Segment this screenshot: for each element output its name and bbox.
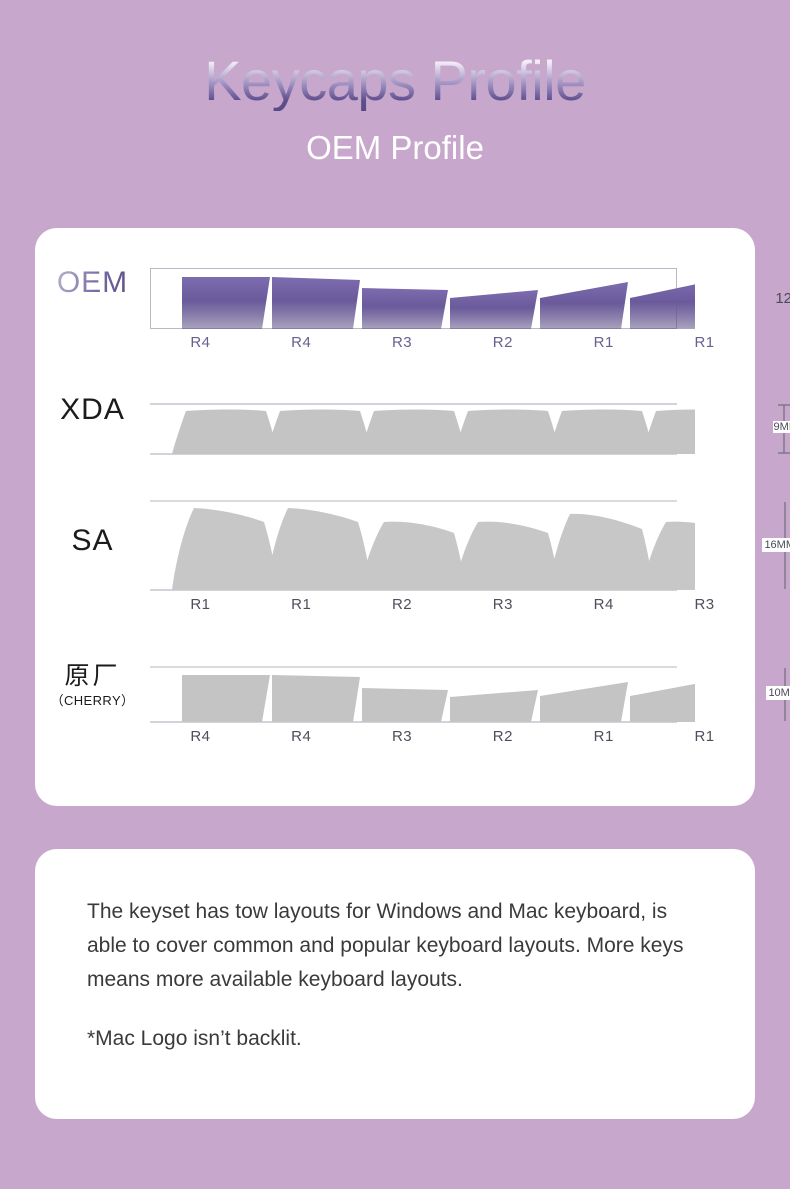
key-label: R1 xyxy=(251,596,352,613)
key-label: R2 xyxy=(352,596,453,613)
row-label-sa-text: SA xyxy=(35,526,150,556)
row-label-sa: SA xyxy=(35,526,150,556)
key-label: R2 xyxy=(452,334,553,351)
key-label: R4 xyxy=(251,728,352,745)
row-label-oem-text: OEM xyxy=(57,268,128,298)
row-label-xda: XDA xyxy=(35,395,150,425)
row-stage-xda: 9MM xyxy=(150,403,755,455)
key-label: R4 xyxy=(251,334,352,351)
key-label: R4 xyxy=(150,728,251,745)
dimension-label-sa: 16MM xyxy=(762,538,790,552)
dimension-label-xda: 9MM xyxy=(773,421,790,433)
dimension-label-oem: 12MM xyxy=(775,290,790,307)
row-key-labels-oem: R4 R4 R3 R2 R1 R1 xyxy=(150,334,755,351)
dimension-label-cherry: 10MM xyxy=(766,686,790,700)
row-label-oem: OEM xyxy=(35,268,150,298)
description-card: The keyset has tow layouts for Windows a… xyxy=(35,849,755,1119)
key-label: R3 xyxy=(654,596,755,613)
page-subtitle: OEM Profile xyxy=(0,129,790,167)
key-label: R1 xyxy=(150,596,251,613)
profile-row-list: OEM xyxy=(35,228,755,806)
row-label-xda-text: XDA xyxy=(35,395,150,425)
row-label-cherry-subtext: （CHERRY） xyxy=(35,694,150,707)
description-footnote: *Mac Logo isn’t backlit. xyxy=(87,1027,703,1051)
description-body: The keyset has tow layouts for Windows a… xyxy=(35,849,755,1051)
key-label: R3 xyxy=(352,728,453,745)
key-label: R4 xyxy=(553,596,654,613)
profile-row-sa: SA 16MM xyxy=(35,500,755,638)
profile-row-cherry: 原厂 （CHERRY） xyxy=(35,660,755,776)
row-key-labels-cherry: R4 R4 R3 R2 R1 R1 xyxy=(150,728,755,745)
key-label: R1 xyxy=(553,728,654,745)
row-stage-oem: 12MM R4 R4 R3 R2 R1 R1 xyxy=(150,268,755,330)
key-label: R1 xyxy=(654,334,755,351)
row-stage-cherry: 10MM R4 R4 R3 R2 R1 R1 xyxy=(150,666,755,724)
description-paragraph: The keyset has tow layouts for Windows a… xyxy=(87,895,703,997)
row-stage-sa: 16MM R1 R1 R2 R3 R4 R3 xyxy=(150,500,755,592)
row-label-cherry-text: 原厂 xyxy=(35,664,150,689)
keycap-diagram-oem xyxy=(150,268,695,330)
keycap-diagram-cherry xyxy=(150,666,695,724)
row-label-cherry: 原厂 （CHERRY） xyxy=(35,664,150,707)
keycap-diagram-sa xyxy=(150,500,695,592)
key-label: R4 xyxy=(150,334,251,351)
page-header: Keycaps Profile OEM Profile xyxy=(0,0,790,167)
key-label: R3 xyxy=(452,596,553,613)
key-label: R3 xyxy=(352,334,453,351)
keycap-profile-card: OEM xyxy=(35,228,755,806)
profile-row-oem: OEM xyxy=(35,268,755,390)
page-title: Keycaps Profile xyxy=(204,52,586,111)
key-label: R1 xyxy=(654,728,755,745)
row-key-labels-sa: R1 R1 R2 R3 R4 R3 xyxy=(150,596,755,613)
key-label: R2 xyxy=(452,728,553,745)
profile-row-xda: XDA xyxy=(35,395,755,491)
key-label: R1 xyxy=(553,334,654,351)
keycap-diagram-xda xyxy=(150,403,695,455)
